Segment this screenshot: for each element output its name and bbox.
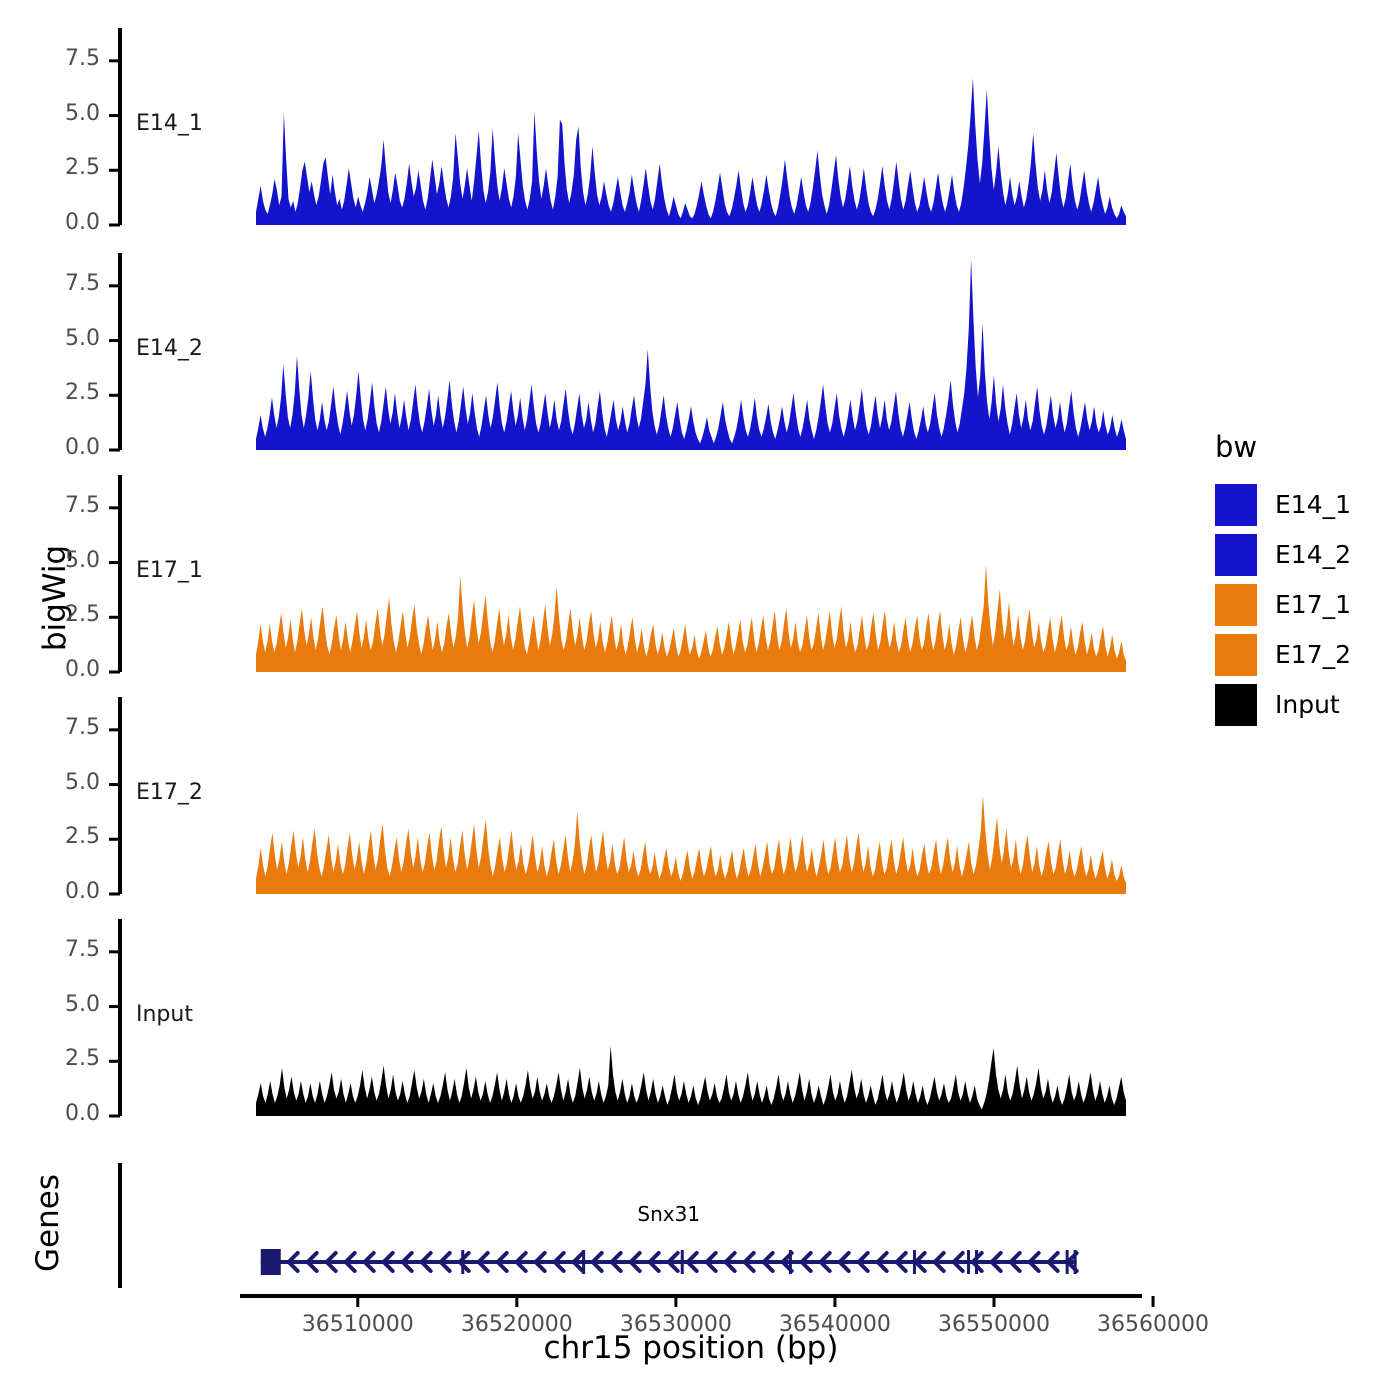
legend-key-e17_2[interactable] xyxy=(1215,634,1257,676)
y-tick-label: 5.0 xyxy=(0,326,100,351)
legend-title: bw xyxy=(1215,430,1257,464)
legend-label-e17_2: E17_2 xyxy=(1275,640,1351,669)
y-tick-label: 7.5 xyxy=(0,937,100,962)
y-tick-label: 0.0 xyxy=(0,210,100,235)
legend-key-e17_1[interactable] xyxy=(1215,584,1257,626)
y-tick-label: 2.5 xyxy=(0,824,100,849)
y-tick-label: 0.0 xyxy=(0,1101,100,1126)
signal-area-e14_2 xyxy=(256,260,1126,450)
y-tick-label: 7.5 xyxy=(0,493,100,518)
legend-label-e14_1: E14_1 xyxy=(1275,490,1351,519)
panel-label-e17_1: E17_1 xyxy=(136,558,203,583)
panel-label-input: Input xyxy=(136,1002,193,1027)
y-tick-label: 5.0 xyxy=(0,101,100,126)
y-tick-label: 7.5 xyxy=(0,715,100,740)
panel-label-e17_2: E17_2 xyxy=(136,780,203,805)
legend-key-e14_2[interactable] xyxy=(1215,534,1257,576)
x-tick-label: 36530000 xyxy=(586,1312,766,1337)
genome-browser-plot xyxy=(0,0,1400,1400)
y-tick-label: 2.5 xyxy=(0,155,100,180)
legend-key-e14_1[interactable] xyxy=(1215,484,1257,526)
signal-area-e17_2 xyxy=(256,796,1126,895)
y-tick-label: 0.0 xyxy=(0,435,100,460)
x-tick-label: 36550000 xyxy=(904,1312,1084,1337)
y-tick-label: 5.0 xyxy=(0,548,100,573)
gene-label: Snx31 xyxy=(569,1202,769,1226)
signal-area-e17_1 xyxy=(256,565,1126,672)
x-tick-label: 36540000 xyxy=(745,1312,925,1337)
y-tick-label: 5.0 xyxy=(0,770,100,795)
legend-key-input[interactable] xyxy=(1215,684,1257,726)
signal-area-e14_1 xyxy=(256,78,1126,225)
x-tick-label: 36520000 xyxy=(427,1312,607,1337)
x-tick-label: 36510000 xyxy=(268,1312,448,1337)
y-tick-label: 2.5 xyxy=(0,380,100,405)
y-tick-label: 5.0 xyxy=(0,992,100,1017)
legend-label-e17_1: E17_1 xyxy=(1275,590,1351,619)
legend-label-e14_2: E14_2 xyxy=(1275,540,1351,569)
x-tick-label: 36560000 xyxy=(1063,1312,1243,1337)
y-tick-label: 0.0 xyxy=(0,657,100,682)
y-tick-label: 2.5 xyxy=(0,1046,100,1071)
y-tick-label: 2.5 xyxy=(0,602,100,627)
gene-exon-block xyxy=(261,1249,281,1275)
y-tick-label: 0.0 xyxy=(0,879,100,904)
panel-label-e14_2: E14_2 xyxy=(136,336,203,361)
signal-area-input xyxy=(256,1046,1126,1116)
legend-label-input: Input xyxy=(1275,690,1340,719)
y-tick-label: 7.5 xyxy=(0,46,100,71)
y-tick-label: 7.5 xyxy=(0,271,100,296)
panel-label-e14_1: E14_1 xyxy=(136,111,203,136)
